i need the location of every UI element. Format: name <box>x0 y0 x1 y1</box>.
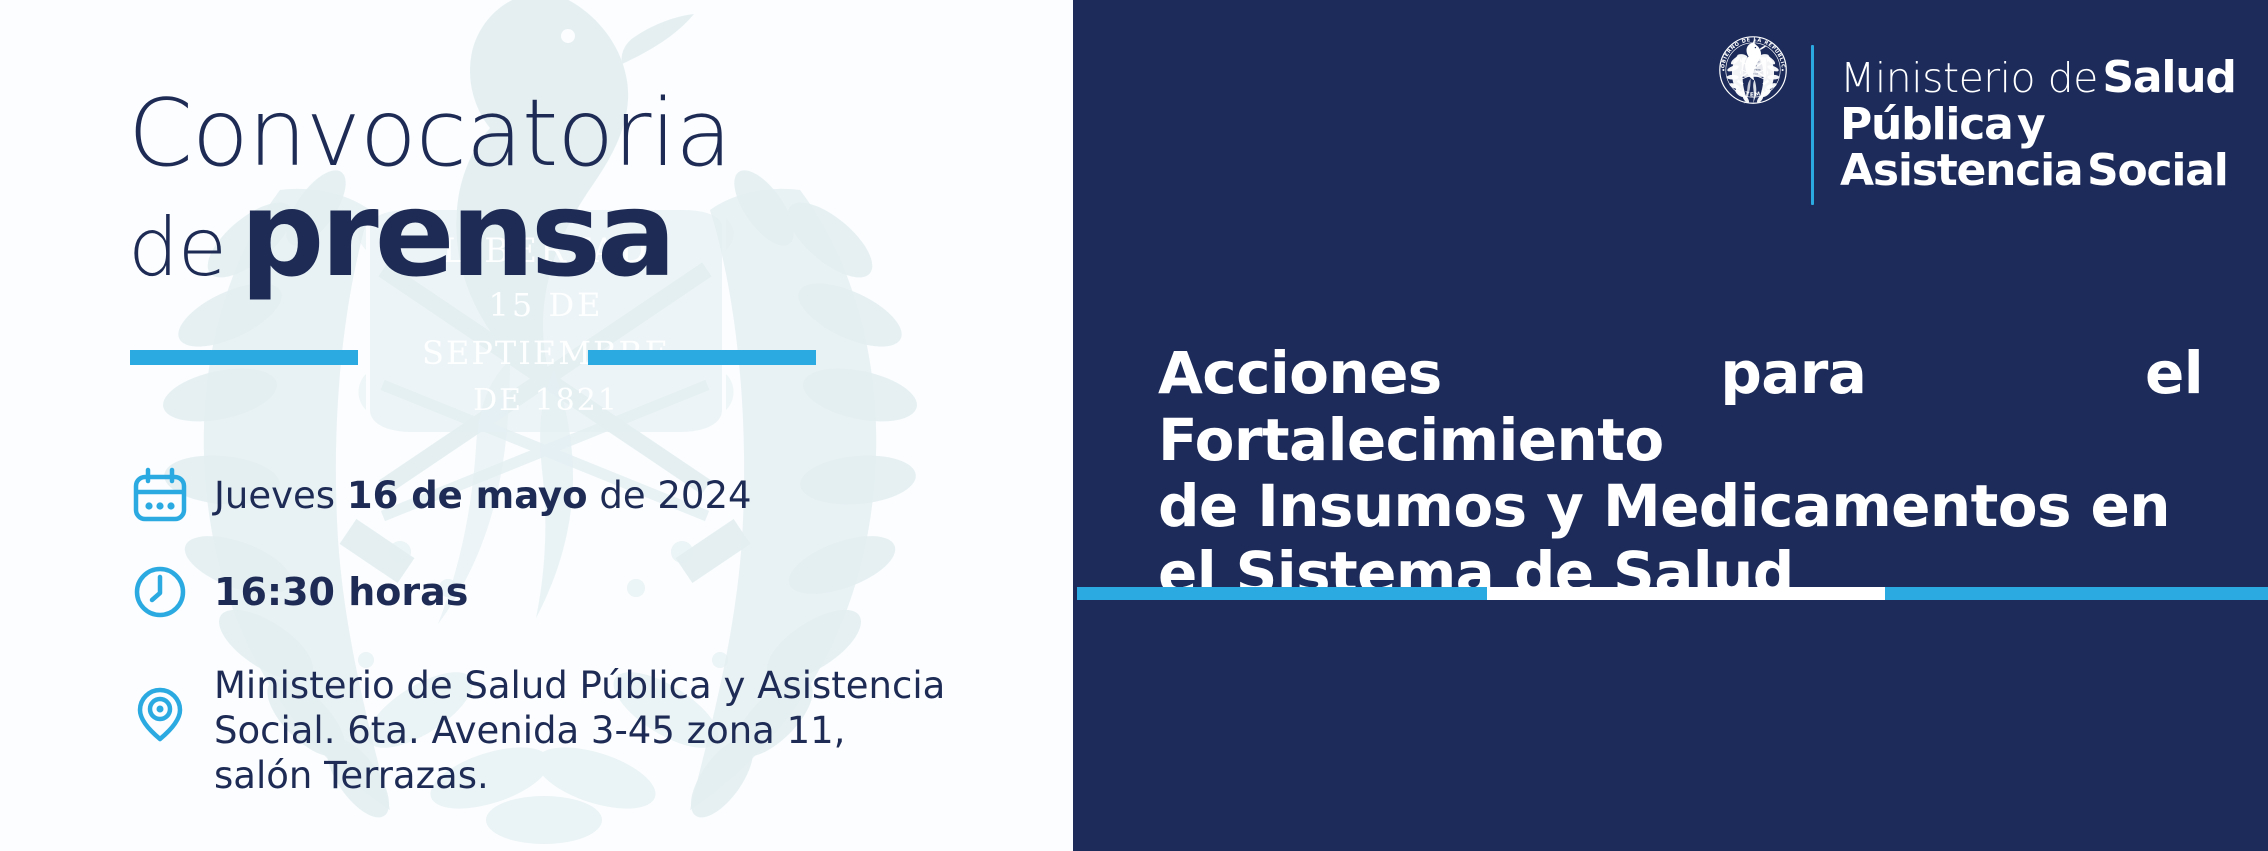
right-panel: GOBIERNO DE LA REPÚBLICA GUATEMALA <box>1073 0 2268 851</box>
event-details-list: Jueves 16 de mayo de 2024 16:30 horas <box>128 468 1028 798</box>
bottom-bar-segment-white <box>1487 587 1885 600</box>
ministry-logo-text: Ministerio de Salud Pública y Asistencia… <box>1840 55 2268 195</box>
ministry-logo: GOBIERNO DE LA REPÚBLICA GUATEMALA <box>1713 30 2268 220</box>
logo-divider <box>1811 45 1814 205</box>
headline: Acciones para el Fortalecimiento de Insu… <box>1158 340 2203 607</box>
bottom-bar-segment-cyan-left <box>1077 587 1487 600</box>
guatemala-government-seal: GOBIERNO DE LA REPÚBLICA GUATEMALA <box>1713 30 1793 220</box>
headline-word-4: Medicamentos <box>1603 472 2071 540</box>
bottom-bar-segment-cyan-right <box>1885 587 2268 600</box>
location-pin-icon <box>128 682 192 746</box>
headline-line-2: de Insumos y Medicamentos en <box>1158 473 2203 540</box>
event-date-row: Jueves 16 de mayo de 2024 <box>128 468 1028 528</box>
location-line-1: Ministerio de Salud Pública y Asistencia <box>214 664 945 707</box>
ministry-name-line-1: Ministerio de <box>1840 54 2098 102</box>
headline-word-5: en <box>2090 472 2169 540</box>
event-location-text: Ministerio de Salud Pública y Asistencia… <box>214 658 945 798</box>
left-content: Convocatoria de prensa <box>0 0 1073 851</box>
event-time-row: 16:30 horas <box>128 562 1028 624</box>
headline-word-1: de <box>1158 472 1238 540</box>
headline-word-2: Insumos <box>1257 472 1526 540</box>
calendar-icon <box>128 464 192 528</box>
date-prefix: Jueves <box>214 474 347 517</box>
event-location-row: Ministerio de Salud Pública y Asistencia… <box>128 658 1028 798</box>
left-panel: LIBERTAD 15 DE SEPTIEMBRE DE 1821 <box>0 0 1073 851</box>
location-line-3: salón Terrazas. <box>214 754 489 797</box>
location-line-2: Social. 6ta. Avenida 3-45 zona 11, <box>214 709 845 752</box>
title-word-de: de <box>128 210 226 286</box>
accent-rule-left <box>130 350 358 365</box>
headline-line-1: Acciones para el Fortalecimiento <box>1158 340 2203 473</box>
accent-rule-right <box>588 350 816 365</box>
clock-icon <box>128 560 192 624</box>
page-title: Convocatoria de prensa <box>128 88 988 287</box>
ministry-name-line-4: Social <box>2087 145 2228 196</box>
event-time-text: 16:30 horas <box>214 562 468 616</box>
date-suffix: de 2024 <box>588 474 752 517</box>
press-conference-poster: LIBERTAD 15 DE SEPTIEMBRE DE 1821 <box>0 0 2268 851</box>
headline-word-3: y <box>1546 472 1583 540</box>
title-accent-rules <box>130 350 830 366</box>
title-word-prensa: prensa <box>240 181 673 287</box>
date-strong: 16 de mayo <box>347 474 588 517</box>
bottom-divider-bar <box>1077 587 2268 600</box>
event-date-text: Jueves 16 de mayo de 2024 <box>214 468 752 519</box>
title-line-de-prensa: de prensa <box>128 181 988 287</box>
